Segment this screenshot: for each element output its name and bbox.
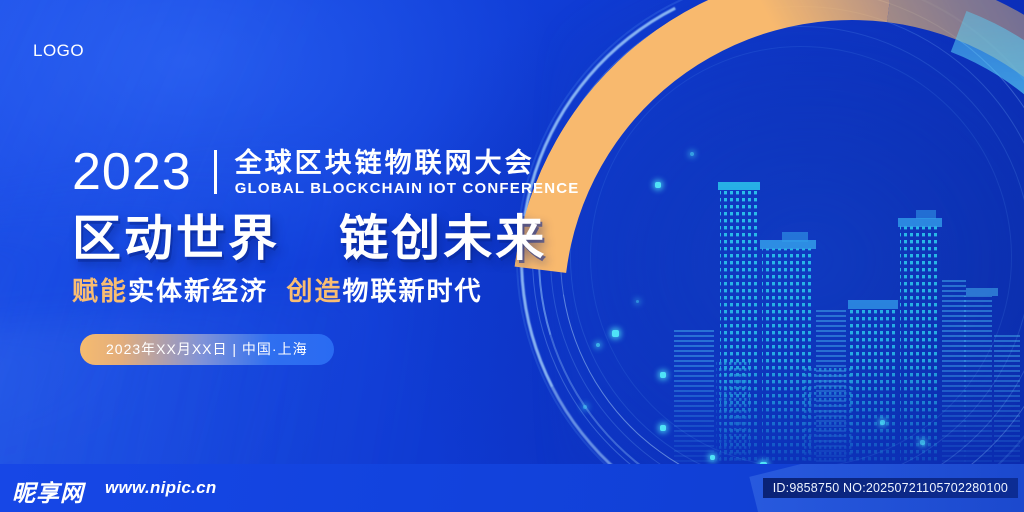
event-title-row: 2023 全球区块链物联网大会 GLOBAL BLOCKCHAIN IOT CO… [72,144,579,200]
nipic-logo: 昵享网 [12,474,84,508]
ring-2 [550,6,1024,508]
glow-dot [710,455,715,460]
glow-dot [583,405,587,409]
event-year: 2023 [72,146,192,198]
glow-dot [655,182,661,188]
logo-placeholder[interactable]: LOGO [33,41,84,61]
event-title-cn: 全球区块链物联网大会 [235,148,580,178]
glow-dot [612,330,619,337]
sub-slogan-text-1: 实体新经济 [128,276,268,306]
glow-dot [920,440,925,445]
nipic-url[interactable]: www.nipic.cn [105,478,217,498]
sub-slogan-spacer [268,276,286,306]
glow-dot [660,372,666,378]
glow-dot [660,425,666,431]
background-glow-right [560,0,1024,512]
ring-outer [516,0,1024,512]
event-title-en: GLOBAL BLOCKCHAIN IOT CONFERENCE [235,180,580,197]
sub-slogan-text-2: 物联新时代 [343,276,483,306]
ring-3 [570,26,1024,488]
event-title-texts: 全球区块链物联网大会 GLOBAL BLOCKCHAIN IOT CONFERE… [235,148,580,197]
sub-slogan-highlight-1: 赋能 [72,276,128,306]
ring-1 [532,0,1024,512]
main-slogan-part1: 区动世界 [72,212,280,266]
ring-4 [590,46,1012,468]
main-slogan-part2: 链创未来 [339,212,547,266]
date-venue-badge: 2023年XX月XX日 | 中国·上海 [80,334,334,365]
glow-dot [690,152,694,156]
title-divider [214,150,217,194]
sub-slogan: 赋能实体新经济 创造物联新时代 [72,274,579,308]
sub-slogan-highlight-2: 创造 [286,276,342,306]
image-id-tag: ID:9858750 NO:20250721105702280100 [763,478,1018,498]
glow-dot [880,420,885,425]
concentric-rings-graphic [512,0,1024,512]
city-skyline-graphic [664,170,1024,470]
headline-block: 2023 全球区块链物联网大会 GLOBAL BLOCKCHAIN IOT CO… [72,144,579,308]
glow-dot [636,300,639,303]
glow-dot [596,343,600,347]
main-slogan: 区动世界 链创未来 [72,210,579,268]
poster-canvas: LOGO 2023 全球区块链物联网大会 GLOBAL BLOCKCHAIN I… [0,0,1024,512]
